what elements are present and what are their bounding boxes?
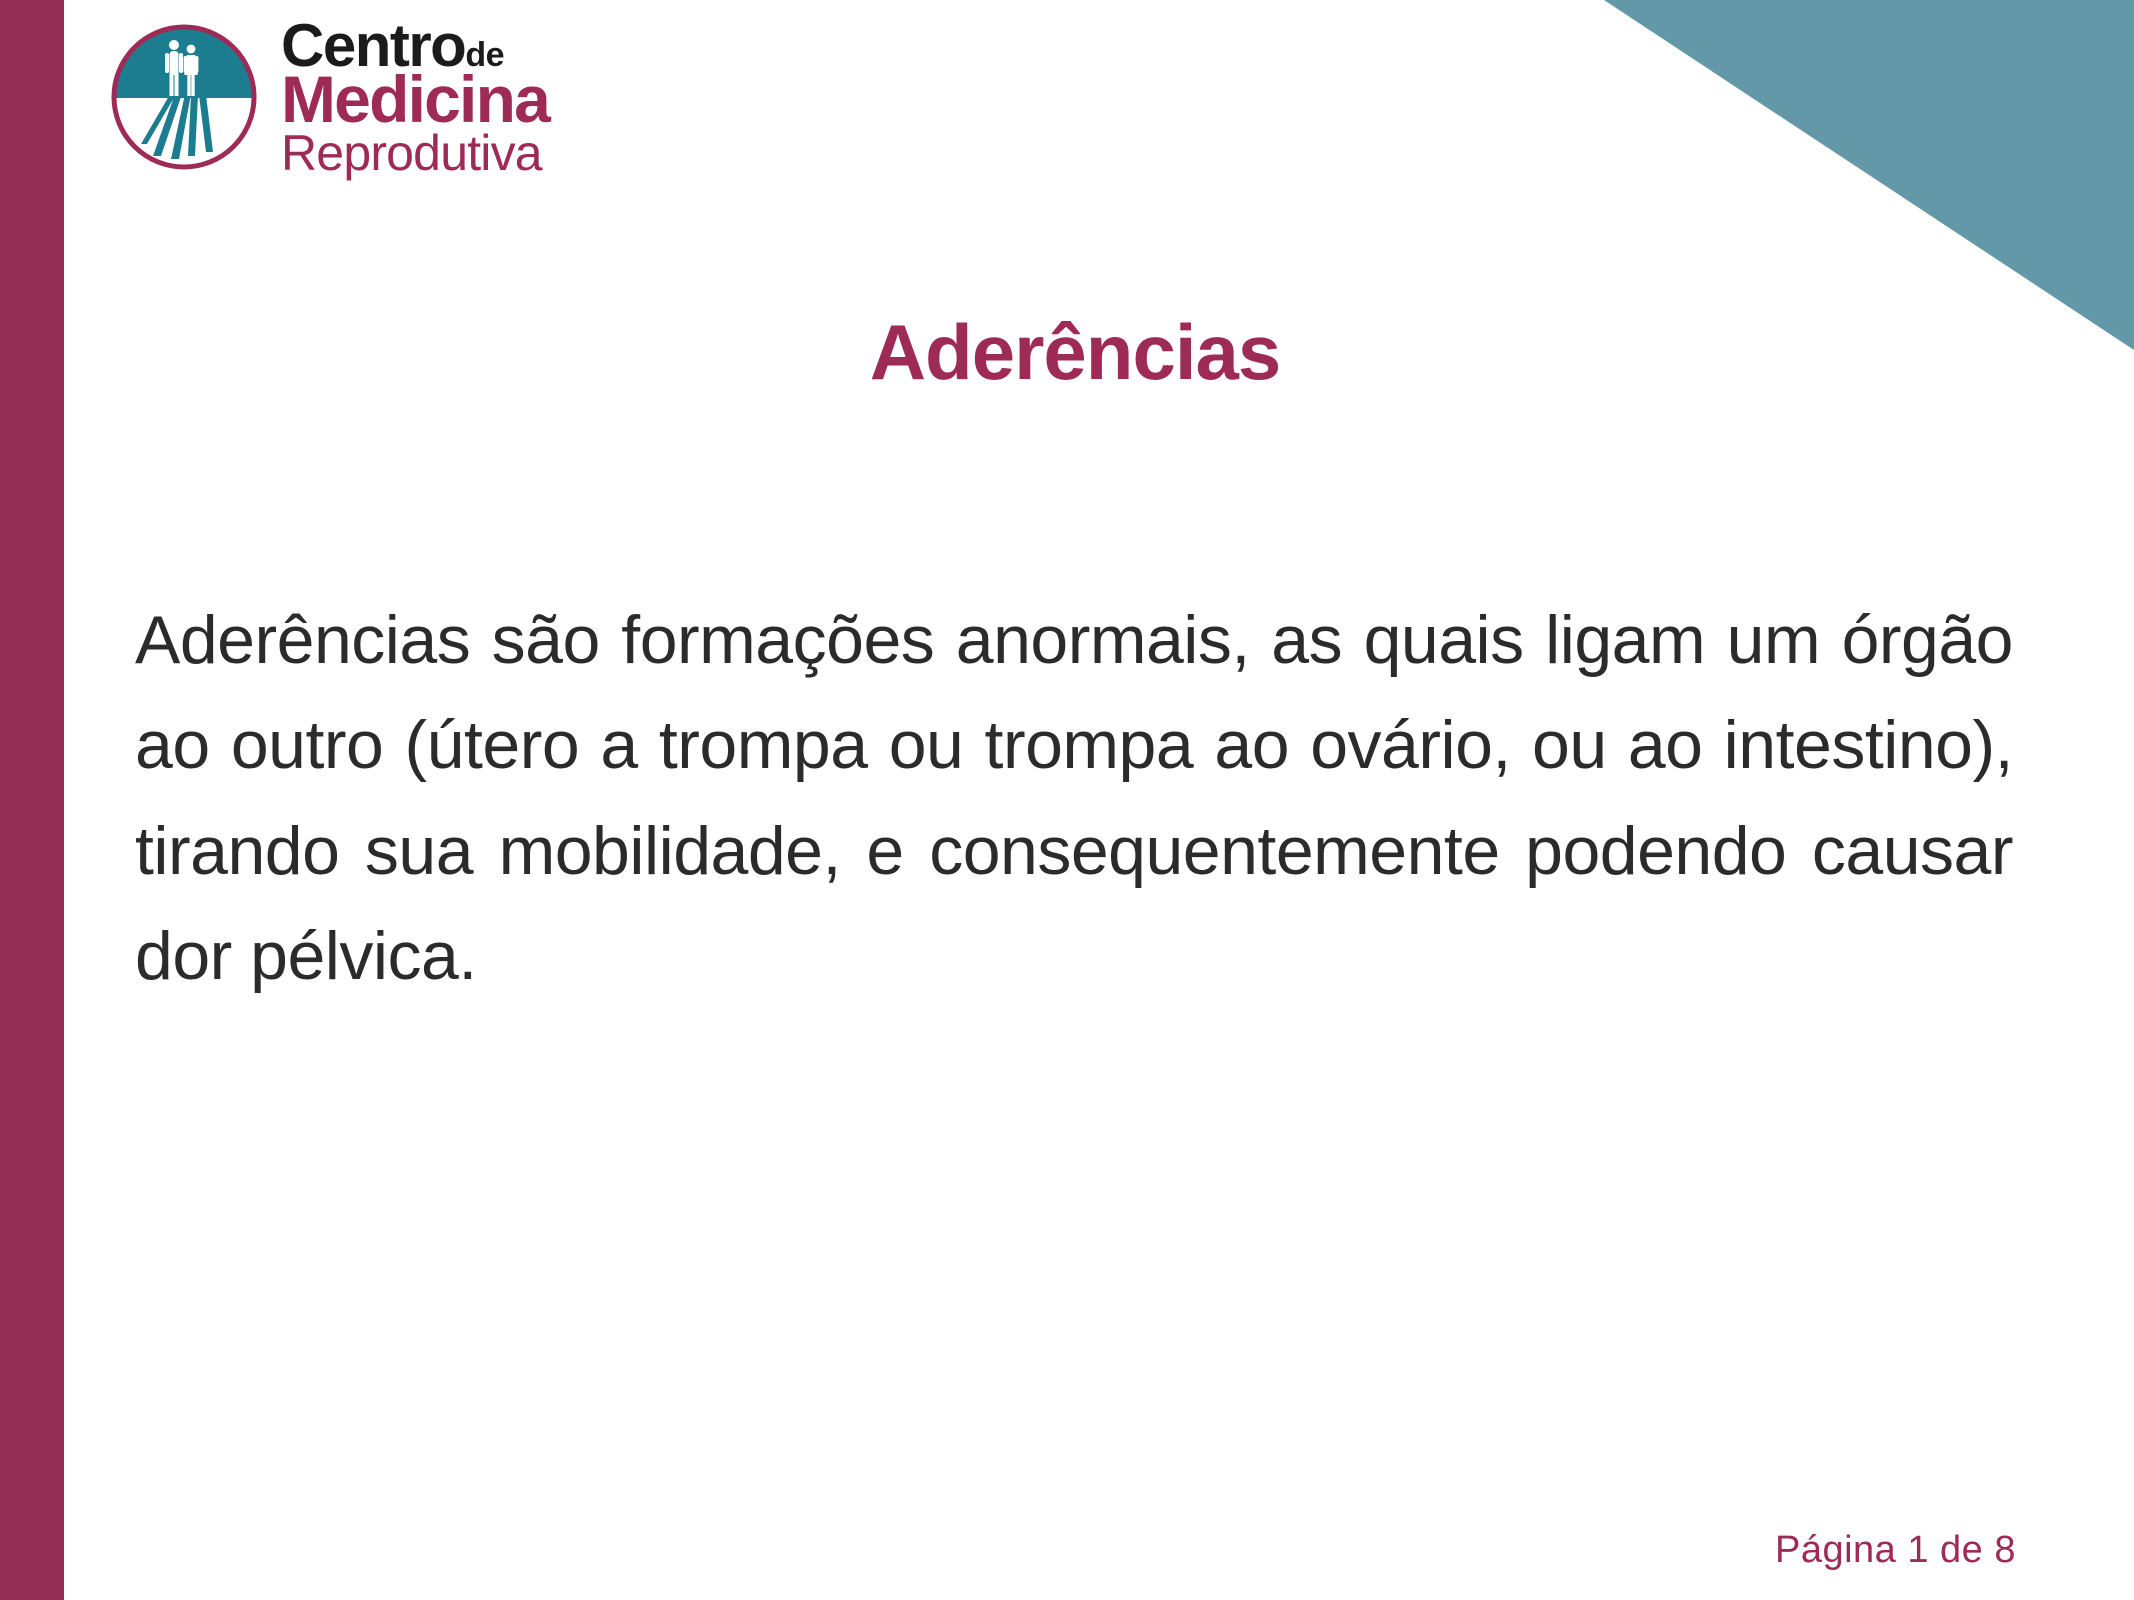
footer-page-number: Página 1 de 8 xyxy=(1775,1529,2016,1572)
page-title: Aderências xyxy=(140,310,2010,396)
couple-in-circle-logo-mark xyxy=(103,16,265,178)
brand-logo: Centrode Medicina Reprodutiva xyxy=(103,8,583,188)
slide-body-paragraph: Aderências são formações anormais, as qu… xyxy=(135,588,2013,1010)
logo-wordmark: Centrode Medicina Reprodutiva xyxy=(281,16,581,184)
top-right-teal-triangle xyxy=(1604,0,2134,350)
logo-text-medicina: Medicina xyxy=(281,66,549,132)
logo-text-reprodutiva: Reprodutiva xyxy=(281,128,542,178)
slide-canvas: Centrode Medicina Reprodutiva Aderências… xyxy=(0,0,2134,1600)
left-accent-bar xyxy=(0,0,64,1600)
